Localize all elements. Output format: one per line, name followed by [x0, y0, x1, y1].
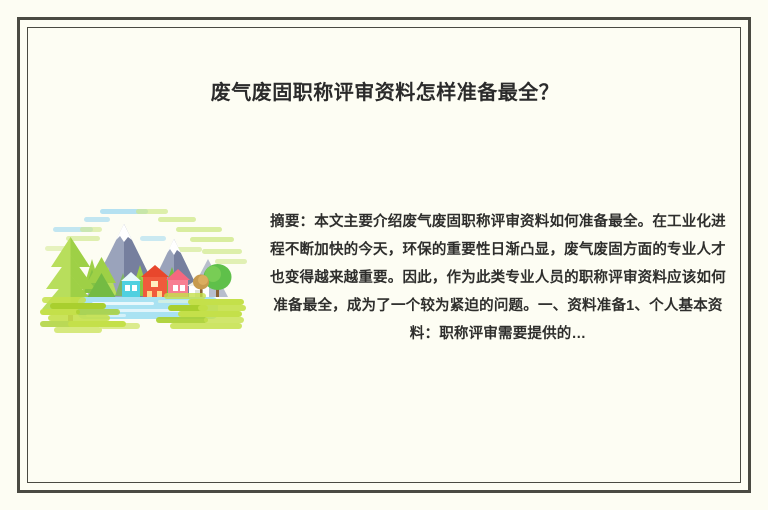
article-abstract: 摘要：本文主要介绍废气废固职称评审资料如何准备最全。在工业化进程不断加快的今天，… — [265, 208, 731, 348]
article-title: 废气废固职称评审资料怎样准备最全？ — [60, 79, 710, 107]
landscape-illustration — [40, 197, 256, 349]
article-card: 废气废固职称评审资料怎样准备最全？ 摘要：本文主要介绍废气废固职称评审资料如何准… — [0, 0, 768, 510]
